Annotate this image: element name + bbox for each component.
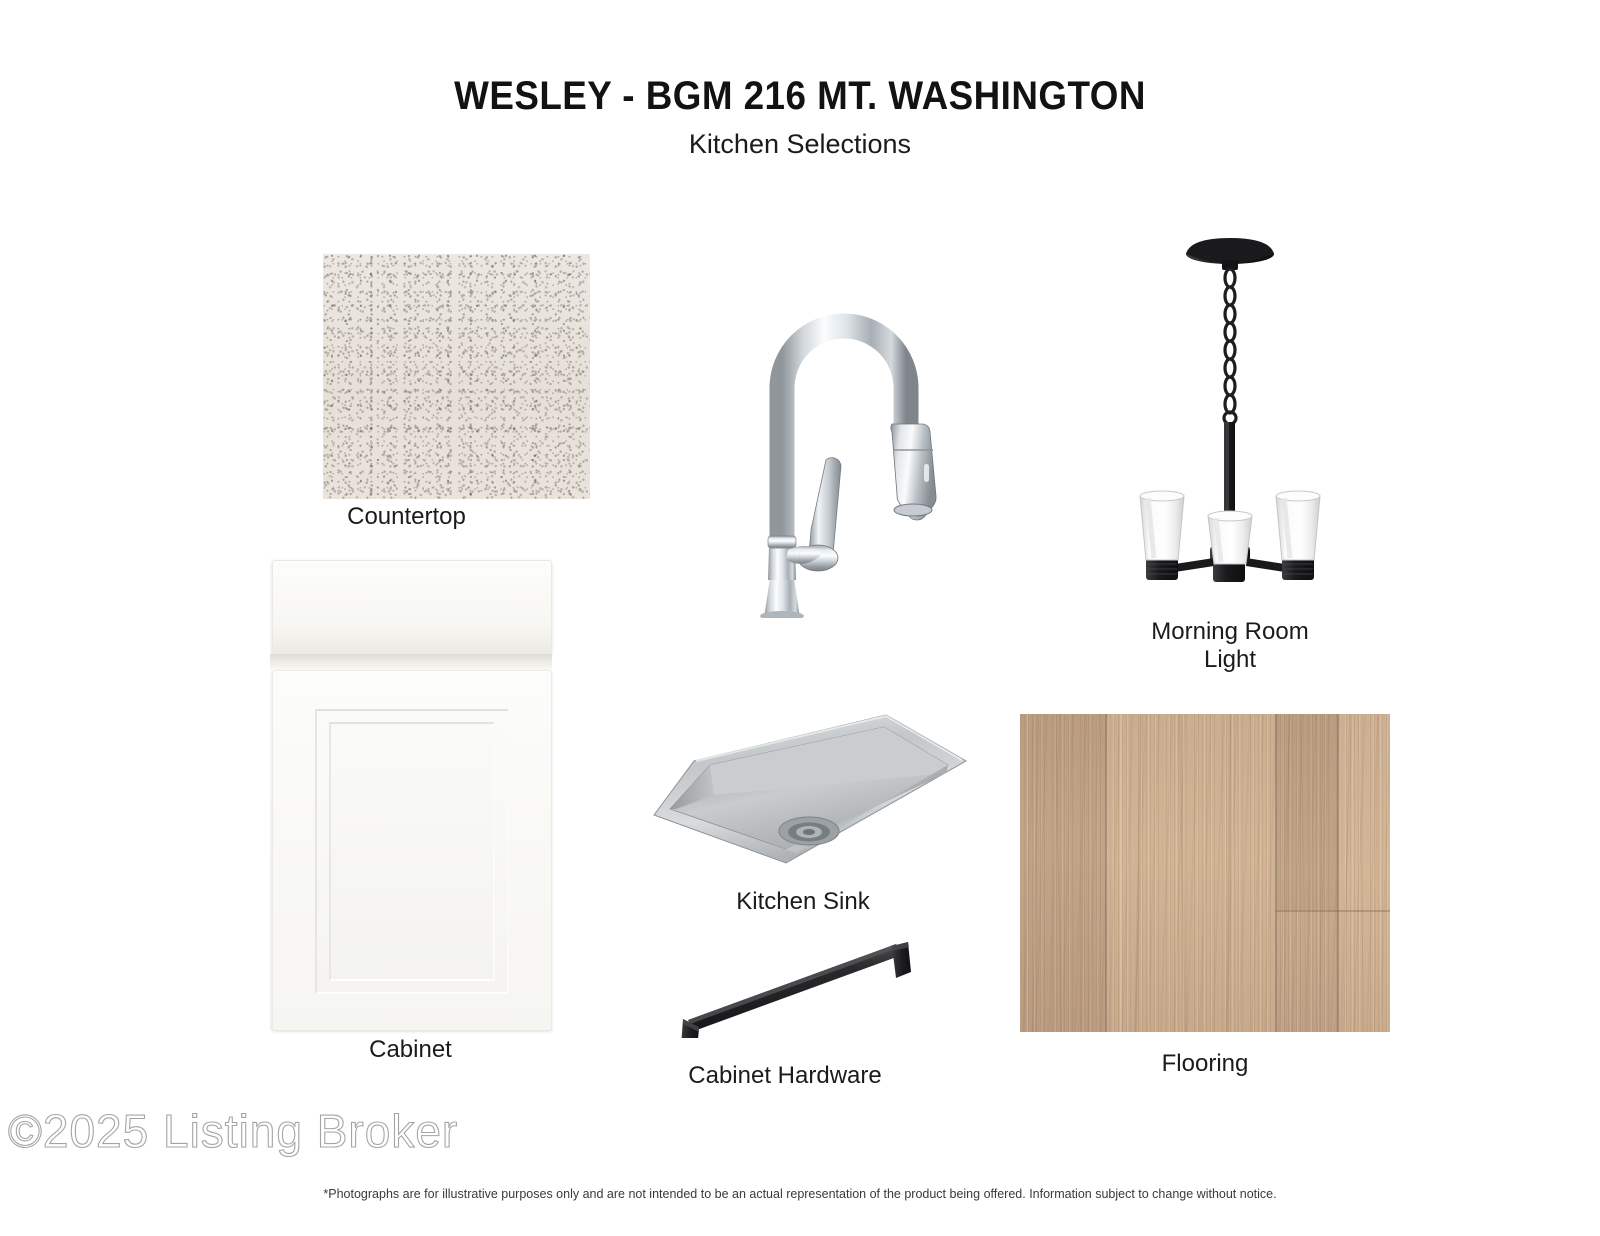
floor-plank bbox=[1338, 714, 1390, 1032]
countertop-swatch-image bbox=[323, 254, 590, 499]
kitchen-sink-image bbox=[636, 703, 970, 875]
cabinet-label: Cabinet bbox=[277, 1036, 544, 1064]
cabinet-drawer-front bbox=[272, 560, 552, 654]
floor-plank bbox=[1106, 714, 1276, 1032]
page-title: WESLEY - BGM 216 MT. WASHINGTON bbox=[64, 0, 1536, 119]
cabinet-panel-outer bbox=[315, 709, 509, 994]
page-subtitle: Kitchen Selections bbox=[0, 119, 1600, 160]
watermark: ©2025 Listing Broker bbox=[8, 1104, 458, 1158]
cabinet-hardware-label: Cabinet Hardware bbox=[640, 1062, 930, 1090]
floor-plank-shade bbox=[1276, 714, 1338, 910]
cabinet-door-front bbox=[272, 670, 552, 1031]
kitchen-sink-label: Kitchen Sink bbox=[636, 888, 970, 916]
cabinet-reveal-gap bbox=[270, 654, 552, 670]
cabinet-door-image bbox=[270, 558, 552, 1031]
disclaimer-text: *Photographs are for illustrative purpos… bbox=[0, 1187, 1600, 1201]
page-header: WESLEY - BGM 216 MT. WASHINGTON Kitchen … bbox=[0, 0, 1600, 160]
chandelier-icon bbox=[1118, 228, 1342, 590]
kitchen-faucet-image bbox=[726, 228, 986, 618]
bar-pull-handle-icon bbox=[670, 928, 918, 1038]
faucet-icon bbox=[726, 228, 986, 618]
morning-room-light-label: Morning Room Light bbox=[1100, 618, 1360, 675]
cabinet-panel-inner bbox=[329, 722, 495, 981]
floor-plank-shade bbox=[1020, 714, 1106, 1032]
sink-icon bbox=[636, 703, 970, 875]
countertop-label: Countertop bbox=[273, 503, 540, 531]
cabinet-hardware-image bbox=[670, 928, 918, 1038]
flooring-label: Flooring bbox=[1060, 1050, 1350, 1078]
morning-room-light-image bbox=[1118, 228, 1342, 590]
flooring-swatch-image bbox=[1020, 714, 1390, 1032]
